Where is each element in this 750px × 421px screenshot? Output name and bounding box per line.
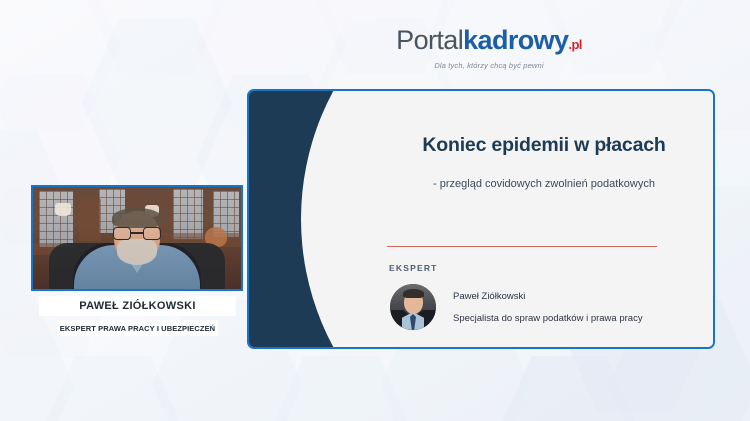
slide-title: Koniec epidemii w płacach (381, 134, 707, 157)
logo-portal-text: Portal (396, 25, 463, 55)
speaker-name: PAWEŁ ZIÓŁKOWSKI (79, 300, 195, 312)
webcam-frame-image (33, 187, 241, 289)
speaker-role: EKSPERT PRAWA PRACY I UBEZPIECZEŃ (60, 324, 215, 333)
speaker-glasses (113, 227, 161, 240)
speaker-role-plate: EKSPERT PRAWA PRACY I UBEZPIECZEŃ (57, 320, 218, 336)
brand-logo: Portalkadrowy.pl Dla tych, którzy chcą b… (396, 26, 582, 70)
slide-subtitle: - przegląd covidowych zwolnień podatkowy… (381, 178, 707, 190)
presentation-slide[interactable]: Koniec epidemii w płacach - przegląd cov… (247, 89, 715, 349)
expert-avatar (390, 284, 436, 330)
logo-wordmark: Portalkadrowy.pl (396, 26, 582, 59)
logo-tagline: Dla tych, którzy chcą być pewni (396, 61, 582, 70)
expert-name: Paweł Ziółkowski (453, 291, 525, 302)
expert-section-label: EKSPERT (389, 263, 438, 273)
presentation-stage: Portalkadrowy.pl Dla tych, którzy chcą b… (0, 0, 750, 421)
logo-tld-text: .pl (568, 37, 581, 52)
expert-role: Specjalista do spraw podatków i prawa pr… (453, 313, 643, 324)
speaker-webcam-video[interactable] (31, 185, 243, 291)
slide-content: Koniec epidemii w płacach - przegląd cov… (249, 91, 713, 347)
slide-divider (387, 246, 657, 247)
logo-kadrowy-text: kadrowy (463, 25, 568, 55)
speaker-name-plate: PAWEŁ ZIÓŁKOWSKI (39, 296, 236, 316)
